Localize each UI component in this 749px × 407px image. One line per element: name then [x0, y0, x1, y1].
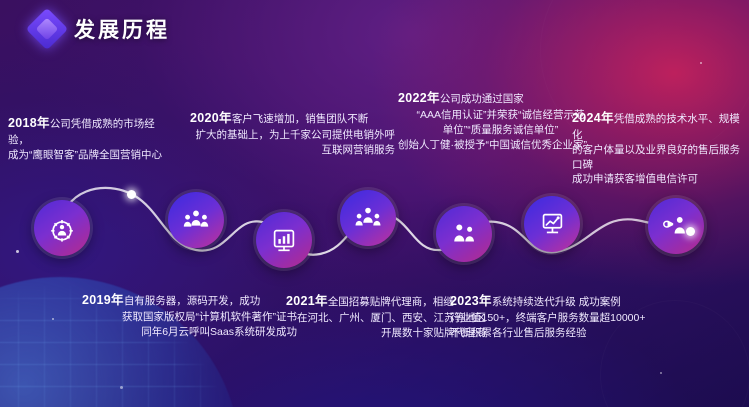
timeline-year-2019: 2019年 [82, 293, 124, 307]
timeline-node-2023[interactable] [524, 196, 580, 252]
slide-header: 发展历程 [32, 14, 170, 44]
timeline-node-2024[interactable] [648, 198, 704, 254]
timeline-node-2021[interactable] [340, 190, 396, 246]
timeline-text-2019-line1: 自有服务器，源码开发，成功 [124, 295, 261, 307]
chart-board-icon [269, 225, 299, 255]
timeline-label-2018: 2018年公司凭借成熟的市场经验， 成为“鹰眼智客”品牌全国营销中心 [8, 115, 168, 163]
timeline-node-2022[interactable] [436, 206, 492, 262]
timeline-text-2020-line2: 扩大的基础上，为上千家公司提供电销外呼 [190, 128, 395, 143]
timeline-text-2023-line2: 行业值150+，终端客户服务数量超10000+ [450, 311, 665, 326]
timeline-text-2019-line3: 同年6月云呼叫Saas系统研发成功 [82, 325, 297, 340]
timeline-label-2019: 2019年自有服务器，源码开发，成功 获取国家版权局“计算机软件著作”证书 同年… [82, 292, 297, 340]
slide-canvas: 发展历程 [0, 0, 749, 407]
timeline-year-2022: 2022年 [398, 91, 440, 105]
timeline-text-2023-line3: 不断积累各行业售后服务经验 [450, 326, 665, 341]
timeline-text-2020-line1: 客户飞速增加，销售团队不断 [232, 113, 369, 125]
timeline-year-2020: 2020年 [190, 111, 232, 125]
path-dot [127, 190, 136, 199]
sparkle-dot [120, 386, 123, 389]
presentation-chart-icon [537, 209, 567, 239]
timeline-text-2023-line1: 系统持续迭代升级 成功案例 [492, 296, 621, 308]
timeline-text-2024-line2: 的客户体量以及业界良好的售后服务口碑 [572, 143, 747, 173]
timeline-node-2019[interactable] [168, 192, 224, 248]
timeline-year-2024: 2024年 [572, 111, 614, 125]
sparkle-dot [52, 318, 54, 320]
timeline-year-2021: 2021年 [286, 294, 328, 308]
two-persons-icon [449, 219, 479, 249]
timeline-label-2023: 2023年系统持续迭代升级 成功案例 行业值150+，终端客户服务数量超1000… [450, 293, 665, 341]
timeline-text-2024-line3: 成功申请获客增值电信许可 [572, 172, 747, 187]
path-dot [686, 227, 695, 236]
page-title: 发展历程 [74, 14, 170, 44]
sparkle-dot [16, 250, 19, 253]
timeline-label-2020: 2020年客户飞速增加，销售团队不断 扩大的基础上，为上千家公司提供电销外呼 互… [190, 110, 395, 158]
team-group-icon [181, 205, 211, 235]
timeline-text-2022-line1: 公司成功通过国家 [440, 93, 524, 105]
timeline-text-2020-line3: 互联网营销服务 [190, 143, 395, 158]
timeline-label-2024: 2024年凭借成熟的技术水平、规模化 的客户体量以及业界良好的售后服务口碑 成功… [572, 110, 747, 187]
gear-person-icon [47, 213, 77, 243]
diamond-logo-icon [26, 8, 68, 50]
timeline-node-2018[interactable] [34, 200, 90, 256]
timeline-node-2020[interactable] [256, 212, 312, 268]
timeline-text-2018-line2: 成为“鹰眼智客”品牌全国营销中心 [8, 148, 168, 163]
timeline-year-2023: 2023年 [450, 294, 492, 308]
timeline-text-2021-line1: 全国招募贴牌代理商，相继 [328, 296, 454, 308]
timeline-year-2018: 2018年 [8, 116, 50, 130]
megaphone-person-icon [661, 211, 691, 241]
timeline-text-2019-line2: 获取国家版权局“计算机软件著作”证书 [82, 310, 297, 325]
people-network-icon [353, 203, 383, 233]
